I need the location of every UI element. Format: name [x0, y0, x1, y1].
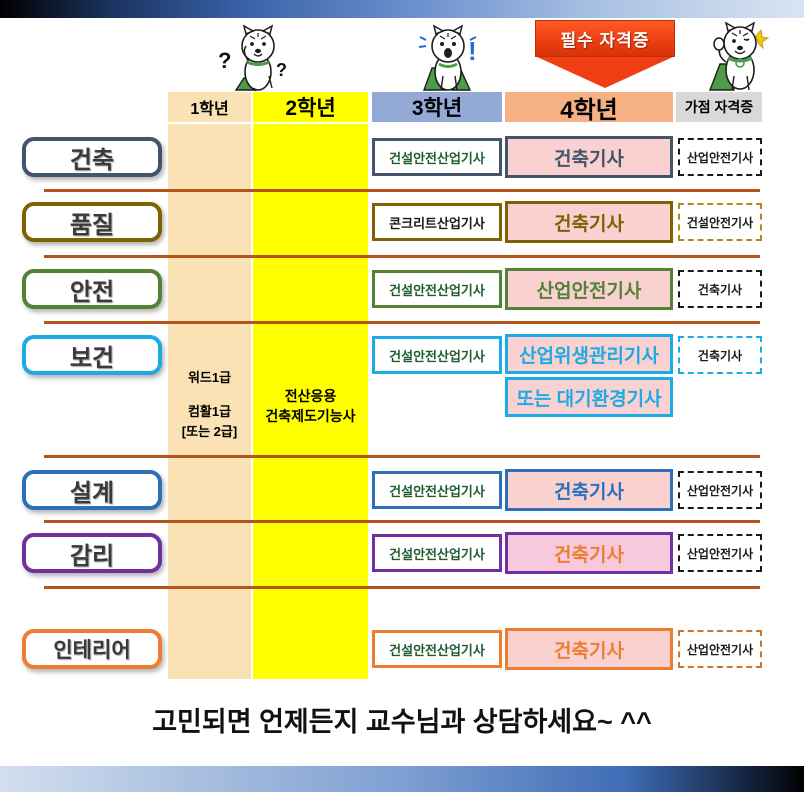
header-bonus: 가점 자격증	[676, 92, 762, 122]
year4-cert-설계[interactable]: 건축기사	[505, 469, 673, 511]
row-label-text: 보건	[70, 338, 114, 373]
bonus-cert-보건[interactable]: 건축기사	[678, 336, 762, 374]
bonus-cert-안전[interactable]: 건축기사	[678, 270, 762, 308]
tiger-thinking-icon: ? ?	[214, 20, 292, 92]
svg-text:?: ?	[276, 60, 287, 80]
bonus-cert-인테리어[interactable]: 산업안전기사	[678, 630, 762, 668]
row-divider-4	[44, 455, 760, 458]
header-year2: 2학년	[253, 92, 368, 122]
row-label-설계[interactable]: 설계	[22, 470, 162, 510]
row-label-보건[interactable]: 보건	[22, 335, 162, 375]
year3-cert-안전[interactable]: 건설안전산업기사	[372, 270, 502, 308]
row-label-인테리어[interactable]: 인테리어	[22, 629, 162, 669]
row-label-text: 설계	[70, 473, 114, 508]
svg-text:!: !	[468, 36, 477, 66]
row-divider-2	[44, 255, 760, 258]
bonus-cert-품질[interactable]: 건설안전기사	[678, 203, 762, 241]
row-label-안전[interactable]: 안전	[22, 269, 162, 309]
year3-cert-보건[interactable]: 건설안전산업기사	[372, 336, 502, 374]
year3-cert-건축[interactable]: 건설안전산업기사	[372, 138, 502, 176]
bonus-cert-설계[interactable]: 산업안전기사	[678, 471, 762, 509]
year3-cert-감리[interactable]: 건설안전산업기사	[372, 534, 502, 572]
header-year4: 4학년	[505, 92, 673, 122]
row-label-건축[interactable]: 건축	[22, 137, 162, 177]
year1-certificate-list: 워드1급 컴활1급 [또는 2급]	[168, 368, 251, 442]
year2-line-2: 건축제도기능사	[253, 406, 368, 426]
row-label-text: 안전	[70, 272, 114, 307]
row-label-감리[interactable]: 감리	[22, 533, 162, 573]
row-label-품질[interactable]: 품질	[22, 202, 162, 242]
row-divider-3	[44, 321, 760, 324]
year4-cert-인테리어[interactable]: 건축기사	[505, 628, 673, 670]
row-label-text: 품질	[70, 205, 114, 240]
banner-label: 필수 자격증	[561, 26, 650, 51]
year4-cert-안전[interactable]: 산업안전기사	[505, 268, 673, 310]
year2-certificate-list: 전산응용 건축제도기능사	[253, 386, 368, 427]
year4-cert-건축[interactable]: 건축기사	[505, 136, 673, 178]
row-divider-5	[44, 520, 760, 523]
banner-arrow-head-icon	[535, 56, 675, 88]
year1-line-3: [또는 2급]	[168, 422, 251, 442]
certification-roadmap-page: ? ? !	[0, 0, 804, 792]
header-year3: 3학년	[372, 92, 502, 122]
row-label-text: 인테리어	[53, 634, 130, 664]
banner-body: 필수 자격증	[535, 20, 675, 57]
year3-cert-인테리어[interactable]: 건설안전산업기사	[372, 630, 502, 668]
svg-text:?: ?	[218, 48, 231, 73]
tiger-surprised-icon: !	[412, 20, 486, 92]
tiger-waving-icon	[700, 18, 776, 92]
year4-cert-보건[interactable]: 산업위생관리기사	[505, 334, 673, 374]
bonus-cert-건축[interactable]: 산업안전기사	[678, 138, 762, 176]
row-label-text: 감리	[70, 536, 114, 571]
year2-line-1: 전산응용	[253, 386, 368, 406]
footer-note: 고민되면 언제든지 교수님과 상담하세요~ ^^	[0, 700, 804, 739]
header-year1: 1학년	[168, 92, 251, 122]
row-divider-1	[44, 189, 760, 192]
row-label-text: 건축	[70, 140, 114, 175]
year4-cert-품질[interactable]: 건축기사	[505, 201, 673, 243]
year3-cert-설계[interactable]: 건설안전산업기사	[372, 471, 502, 509]
row-divider-6	[44, 586, 760, 589]
required-certificate-banner: 필수 자격증	[521, 20, 689, 90]
year4-cert-alt-보건[interactable]: 또는 대기환경기사	[505, 377, 673, 417]
year1-line-1: 워드1급	[168, 368, 251, 388]
bottom-decor-band	[0, 766, 804, 792]
year3-cert-품질[interactable]: 콘크리트산업기사	[372, 203, 502, 241]
year4-cert-감리[interactable]: 건축기사	[505, 532, 673, 574]
year1-line-2: 컴활1급	[168, 402, 251, 422]
top-decor-band	[0, 0, 804, 18]
bonus-cert-감리[interactable]: 산업안전기사	[678, 534, 762, 572]
